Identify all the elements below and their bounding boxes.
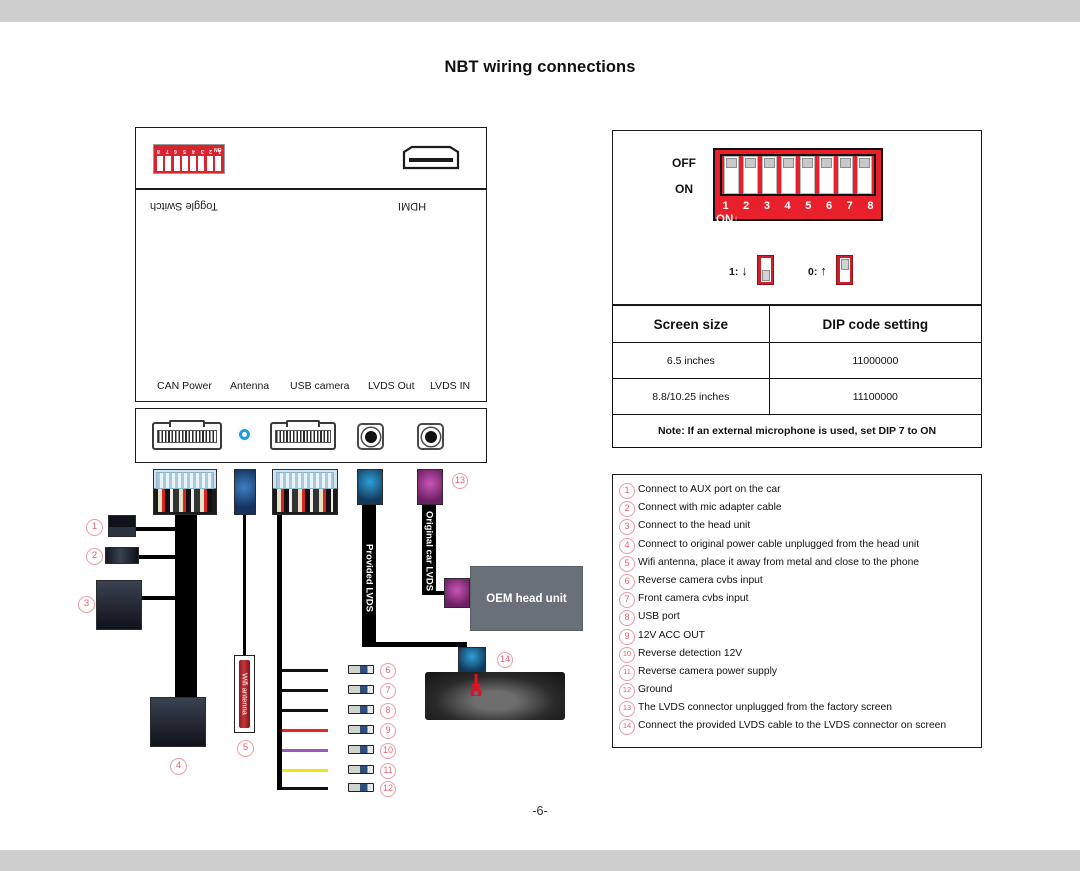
device-dip-levers[interactable] (157, 156, 221, 171)
provided-lvds-cable: Provided LVDS (362, 505, 376, 645)
legend-marker-11: 11 (619, 665, 635, 681)
dip-number-1: 1 (718, 200, 733, 214)
can-power-connector[interactable] (152, 422, 222, 450)
legend-panel: 1 Connect to AUX port on the car 2 Conne… (612, 474, 982, 748)
marker-9: 9 (380, 723, 396, 739)
dip-number-3: 3 (759, 200, 774, 214)
provided-lvds-run (362, 642, 467, 647)
legend-text-1: Connect to AUX port on the car (638, 484, 781, 495)
antenna-connector-photo (234, 469, 256, 515)
screen-lvds-plug-photo (458, 647, 486, 673)
legend-marker-7: 7 (619, 592, 635, 608)
power-harness-photo (153, 469, 217, 515)
dip-switch-levers[interactable] (720, 154, 876, 196)
port-label-lvds-out: LVDS Out (368, 380, 415, 392)
dip-code-table: Screen size DIP code setting 6.5 inches … (612, 305, 982, 448)
table-header-row: Screen size DIP code setting (613, 306, 982, 343)
dip-number-2: 2 (739, 200, 754, 214)
wifi-antenna-label: Wifi antenna (240, 673, 249, 715)
legend-marker-4: 4 (619, 538, 635, 554)
wire-6 (282, 669, 328, 672)
table-row: 6.5 inches 11000000 (613, 343, 982, 379)
marker-13: 13 (452, 473, 468, 489)
header-screen-size: Screen size (613, 306, 770, 343)
dip-lever-2[interactable] (743, 156, 758, 194)
marker-4: 4 (170, 758, 187, 775)
hdmi-label: HDMI (398, 200, 426, 212)
toggle-switch-label: Toggle Switch (150, 200, 218, 212)
dip-on-text: ON (716, 214, 733, 226)
dip-key-zero-switch (836, 255, 853, 285)
dip-key-down-arrow-icon: ↓ (741, 263, 748, 278)
list-item: 2 Connect with mic adapter cable (613, 499, 981, 517)
table-note-row: Note: If an external microphone is used,… (613, 415, 982, 448)
dip-lever-5[interactable] (800, 156, 815, 194)
list-item: 13 The LVDS connector unplugged from the… (613, 699, 981, 717)
hdmi-port-icon (400, 144, 462, 170)
list-item: 11 Reverse camera power supply (613, 663, 981, 681)
dip-key-one-switch (757, 255, 774, 285)
legend-text-11: Reverse camera power supply (638, 666, 777, 677)
list-item: 6 Reverse camera cvbs input (613, 572, 981, 590)
list-item: 8 USB port (613, 608, 981, 626)
legend-text-8: USB port (638, 611, 680, 622)
page-title: NBT wiring connections (0, 58, 1080, 77)
marker-12: 12 (380, 781, 396, 797)
legend-text-10: Reverse detection 12V (638, 648, 742, 659)
legend-text-3: Connect to the head unit (638, 520, 750, 531)
dip-switch-numbers: 1 2 3 4 5 6 7 8 (718, 200, 878, 214)
port-label-can-power: CAN Power (157, 380, 212, 392)
dip-lever-3[interactable] (762, 156, 777, 194)
page-footer: -6- (0, 804, 1080, 818)
port-labels: CAN Power Antenna USB camera LVDS Out LV… (135, 380, 487, 396)
connector-tab (169, 420, 206, 427)
aux-connector-photo (108, 515, 136, 537)
device-dip-on-label: ON (214, 146, 222, 152)
legend-marker-14: 14 (619, 719, 635, 735)
usb-camera-connector[interactable] (270, 422, 336, 450)
port-label-antenna: Antenna (230, 380, 269, 392)
dip-lever-7[interactable] (838, 156, 853, 194)
legend-text-7: Front camera cvbs input (638, 593, 748, 604)
wire-11 (282, 769, 328, 772)
dip-number-8: 8 (863, 200, 878, 214)
original-lvds-plug-photo (417, 469, 443, 505)
dip-lever-8[interactable] (857, 156, 872, 194)
legend-marker-12: 12 (619, 683, 635, 699)
legend-marker-2: 2 (619, 501, 635, 517)
dip-key-up-arrow-icon: ↑ (820, 263, 827, 278)
port-label-usb-camera: USB camera (290, 380, 350, 392)
marker-1: 1 (86, 519, 103, 536)
legend-text-4: Connect to original power cable unplugge… (638, 539, 919, 550)
original-lvds-label: Original car LVDS (424, 511, 435, 591)
marker-14: 14 (497, 652, 513, 668)
provided-lvds-plug-photo (357, 469, 383, 505)
marker-6: 6 (380, 663, 396, 679)
antenna-jack[interactable] (237, 427, 252, 442)
dip-key-zero-label: 0: ↑ (808, 263, 827, 278)
legend-text-5: Wifi antenna, place it away from metal a… (638, 557, 919, 568)
legend-marker-10: 10 (619, 647, 635, 663)
lvds-out-socket[interactable] (357, 423, 384, 450)
list-item: 5 Wifi antenna, place it away from metal… (613, 554, 981, 572)
legend-marker-3: 3 (619, 519, 635, 535)
list-item: 3 Connect to the head unit (613, 517, 981, 535)
dip-number-4: 4 (780, 200, 795, 214)
marker-5: 5 (237, 740, 254, 757)
port-label-lvds-in: LVDS IN (430, 380, 470, 392)
list-item: 7 Front camera cvbs input (613, 590, 981, 608)
legend-text-9: 12V ACC OUT (638, 630, 705, 641)
cell-screen-size-2: 8.8/10.25 inches (613, 379, 770, 415)
list-item: 12 Ground (613, 681, 981, 699)
marker-2: 2 (86, 548, 103, 565)
dip-number-7: 7 (842, 200, 857, 214)
connector-tab (286, 420, 321, 427)
oem-lvds-plug-photo (444, 578, 470, 608)
provided-lvds-label: Provided LVDS (364, 544, 375, 612)
wire-8 (282, 709, 328, 712)
wifi-antenna-photo: Wifi antenna (234, 655, 255, 733)
wire-10 (282, 749, 328, 752)
dip-off-label: OFF (672, 156, 696, 170)
terminal-12[interactable] (348, 783, 374, 792)
dip-lever-1[interactable] (724, 156, 739, 194)
terminal-9[interactable] (348, 725, 374, 734)
legend-text-2: Connect with mic adapter cable (638, 502, 782, 513)
legend-text-14: Connect the provided LVDS cable to the L… (638, 720, 946, 731)
lvds-in-socket[interactable] (417, 423, 444, 450)
wifi-antenna-cable (243, 515, 246, 655)
marker-10: 10 (380, 743, 396, 759)
dip-on-label: ON (675, 182, 693, 196)
branch-1-wire (134, 527, 178, 531)
device-dip-switch[interactable]: 8765 4321 ON (153, 144, 225, 174)
dip-lever-4[interactable] (781, 156, 796, 194)
terminal-8[interactable] (348, 705, 374, 714)
lvds-location-arrow-icon (469, 674, 483, 696)
original-lvds-cable: Original car LVDS (422, 505, 436, 593)
dip-on-direction-label: ON↓ (716, 214, 739, 226)
terminal-11[interactable] (348, 765, 374, 774)
marker-3: 3 (78, 596, 95, 613)
cell-dip-code-2: 11100000 (769, 379, 981, 415)
legend-text-13: The LVDS connector unplugged from the fa… (638, 702, 892, 713)
legend-marker-9: 9 (619, 629, 635, 645)
dip-lever-6[interactable] (819, 156, 834, 194)
connector-pins (275, 430, 331, 443)
table-row: 8.8/10.25 inches 11100000 (613, 379, 982, 415)
list-item: 14 Connect the provided LVDS cable to th… (613, 717, 981, 735)
legend-text-6: Reverse camera cvbs input (638, 575, 763, 586)
legend-marker-1: 1 (619, 483, 635, 499)
usb-harness-photo (272, 469, 338, 515)
dip-number-6: 6 (822, 200, 837, 214)
cell-screen-size-1: 6.5 inches (613, 343, 770, 379)
legend-text-12: Ground (638, 684, 672, 695)
list-item: 9 12V ACC OUT (613, 627, 981, 645)
legend-marker-8: 8 (619, 610, 635, 626)
legend-marker-13: 13 (619, 701, 635, 717)
dip-on-arrow-icon: ↓ (733, 214, 739, 226)
marker-8: 8 (380, 703, 396, 719)
oem-head-unit-box: OEM head unit (470, 566, 583, 631)
cell-dip-code-1: 11000000 (769, 343, 981, 379)
list-item: 10 Reverse detection 12V (613, 645, 981, 663)
marker-11: 11 (380, 763, 396, 779)
device-body-panel (135, 189, 487, 402)
document-page: NBT wiring connections 8765 4321 ON Togg… (0, 22, 1080, 850)
legend-marker-6: 6 (619, 574, 635, 590)
connector-pins (157, 430, 217, 443)
dip-key-one-label: 1: ↓ (729, 263, 748, 278)
list-item: 4 Connect to original power cable unplug… (613, 536, 981, 554)
list-item: 1 Connect to AUX port on the car (613, 481, 981, 499)
terminal-10[interactable] (348, 745, 374, 754)
factory-screen-photo (425, 672, 565, 720)
terminal-6[interactable] (348, 665, 374, 674)
original-power-connector-photo (150, 697, 206, 747)
wire-12 (282, 787, 328, 790)
mic-adapter-photo (105, 547, 139, 564)
dip-table-note: Note: If an external microphone is used,… (613, 415, 982, 448)
header-dip-code: DIP code setting (769, 306, 981, 343)
wire-7 (282, 689, 328, 692)
terminal-7[interactable] (348, 685, 374, 694)
wire-9 (282, 729, 328, 732)
main-harness-trunk (175, 515, 197, 705)
marker-7: 7 (380, 683, 396, 699)
dip-number-5: 5 (801, 200, 816, 214)
head-unit-connector-photo (96, 580, 142, 630)
legend-marker-5: 5 (619, 556, 635, 572)
branch-2-wire (134, 555, 178, 559)
